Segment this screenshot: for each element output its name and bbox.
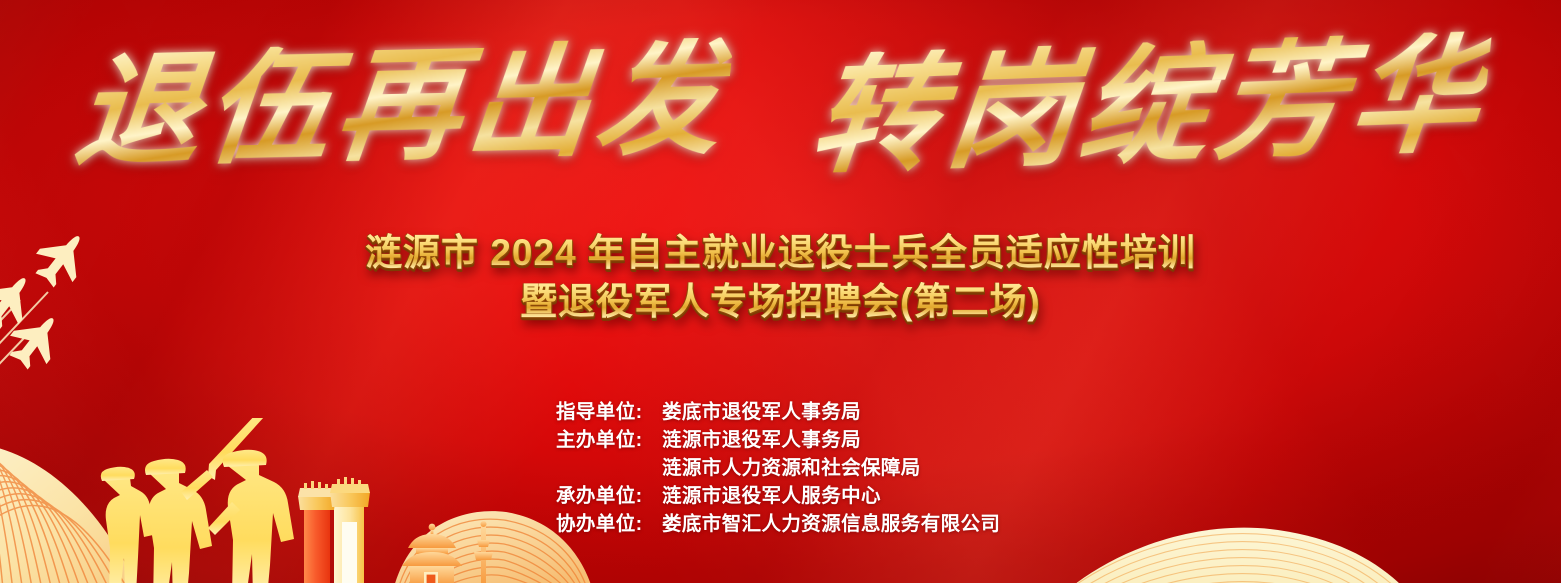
organizer-value: 娄底市智汇人力资源信息服务有限公司: [662, 510, 1000, 538]
event-title-line-1: 涟源市 2024 年自主就业退役士兵全员适应性培训: [0, 228, 1561, 277]
organizer-value: 涟源市退役军人服务中心: [662, 482, 881, 510]
organizer-values: 涟源市退役军人服务中心: [662, 482, 881, 510]
event-title-line-2: 暨退役军人专场招聘会(第二场): [0, 277, 1561, 326]
organizer-value: 涟源市人力资源和社会保障局: [662, 454, 921, 482]
organizer-row: 指导单位:娄底市退役军人事务局: [556, 398, 1000, 426]
organizer-list: 指导单位:娄底市退役军人事务局主办单位:涟源市退役军人事务局涟源市人力资源和社会…: [556, 398, 1000, 538]
organizer-value: 娄底市退役军人事务局: [662, 398, 861, 426]
banner-poster: 退伍再出发 转岗绽芳华 涟源市 2024 年自主就业退役士兵全员适应性培训 暨退…: [0, 0, 1561, 583]
organizer-values: 娄底市退役军人事务局: [662, 398, 861, 426]
headline-phrase-1: 退伍再出发: [70, 37, 734, 175]
pagoda-icon: [398, 520, 518, 583]
organizer-row: 主办单位:涟源市退役军人事务局涟源市人力资源和社会保障局: [556, 426, 1000, 482]
organizer-values: 娄底市智汇人力资源信息服务有限公司: [662, 510, 1000, 538]
organizer-values: 涟源市退役军人事务局涟源市人力资源和社会保障局: [662, 426, 921, 482]
organizer-label: 协办单位:: [556, 510, 662, 538]
organizer-value: 涟源市退役军人事务局: [662, 426, 921, 454]
event-title: 涟源市 2024 年自主就业退役士兵全员适应性培训 暨退役军人专场招聘会(第二场…: [0, 228, 1561, 326]
organizer-row: 协办单位:娄底市智汇人力资源信息服务有限公司: [556, 510, 1000, 538]
headline-phrase-2: 转岗绽芳华: [805, 30, 1491, 181]
organizer-row: 承办单位:涟源市退役军人服务中心: [556, 482, 1000, 510]
organizer-label: 指导单位:: [556, 398, 662, 426]
headline: 退伍再出发 转岗绽芳华: [0, 0, 1561, 212]
organizer-label: 承办单位:: [556, 482, 662, 510]
organizer-label: 主办单位:: [556, 426, 662, 482]
